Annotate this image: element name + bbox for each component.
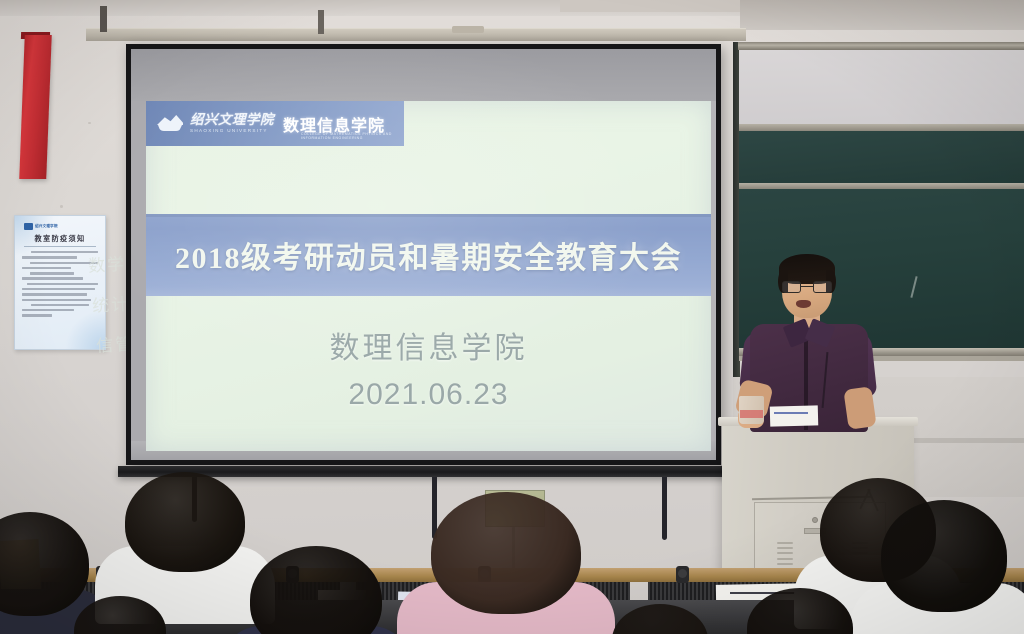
blackboard-rail: [739, 124, 1024, 131]
poster-title: 教室防疫须知: [22, 234, 98, 244]
chalk-subject-2: 统计: [92, 295, 131, 316]
college-name-en: COLLEGE OF MATHEMATICS PHYSICS AND INFOR…: [301, 132, 404, 140]
screen-mount-rail: [86, 28, 746, 41]
screen-strap: [662, 477, 667, 540]
screen-margin-top: [131, 49, 716, 101]
student-9: [55, 596, 185, 634]
poster-body: [22, 251, 98, 317]
student-6: [851, 500, 1024, 634]
slide-title-band: 2018级考研动员和暑期安全教育大会: [146, 214, 711, 296]
rail-bracket: [100, 6, 107, 32]
student-head: [881, 500, 1007, 612]
student-8: [590, 604, 730, 634]
university-name-en: SHAOXING UNIVERSITY: [190, 129, 274, 134]
cup-band: [740, 410, 763, 418]
poster-divider: [24, 246, 96, 247]
screen-margin-left: [131, 101, 146, 451]
student-head: [74, 596, 166, 634]
slide-date: 2021.06.23: [146, 378, 711, 412]
presenter-mouth: [796, 300, 811, 308]
classroom-photo-scene: 绍兴文理学院 教室防疫须知 数学A-205: [0, 0, 1024, 634]
presenter-arm: [843, 386, 876, 430]
red-wall-banner: [19, 35, 52, 179]
projection-screen: 绍兴文理学院 SHAOXING UNIVERSITY 数理信息学院 COLLEG…: [126, 44, 721, 465]
desk-bracket: [676, 566, 689, 583]
lectern-paper-line: [774, 412, 808, 414]
blackboard-rail: [738, 42, 1024, 50]
blackboard-upper-panel: [739, 50, 1024, 124]
blackboard-panel: [739, 131, 1024, 183]
poster-logo-text: 绍兴文理学院: [35, 224, 58, 229]
university-name-block: 绍兴文理学院 SHAOXING UNIVERSITY: [190, 113, 274, 134]
glasses-icon: [782, 281, 832, 293]
slide-subtitle: 数理信息学院: [146, 323, 711, 367]
student-3: [221, 546, 411, 634]
poster-logo: 绍兴文理学院: [22, 222, 98, 231]
wall-poster-notice: 绍兴文理学院 教室防疫须知: [14, 215, 106, 350]
student-head: [747, 588, 853, 634]
ceiling-block: [560, 0, 745, 12]
chalk-subject-1: 数学: [88, 255, 127, 276]
student-head: [250, 546, 382, 634]
student-head: [612, 604, 708, 634]
presentation-slide: 绍兴文理学院 SHAOXING UNIVERSITY 数理信息学院 COLLEG…: [146, 101, 711, 451]
lectern-paper: [770, 405, 819, 426]
student-4: [397, 492, 615, 634]
rail-bracket: [318, 10, 324, 34]
screen-surface: 绍兴文理学院 SHAOXING UNIVERSITY 数理信息学院 COLLEG…: [131, 49, 716, 460]
poster-logo-icon: [24, 223, 33, 230]
student-head: [431, 492, 581, 614]
rail-screw: [452, 26, 484, 33]
slide-title: 2018级考研动员和暑期安全教育大会: [175, 233, 682, 277]
university-name-cn: 绍兴文理学院: [190, 113, 274, 127]
ceiling-shadow: [740, 0, 1024, 30]
slide-logo-bar: 绍兴文理学院 SHAOXING UNIVERSITY 数理信息学院 COLLEG…: [146, 101, 404, 146]
university-logo-icon: [157, 114, 183, 133]
student-7: [725, 588, 875, 634]
